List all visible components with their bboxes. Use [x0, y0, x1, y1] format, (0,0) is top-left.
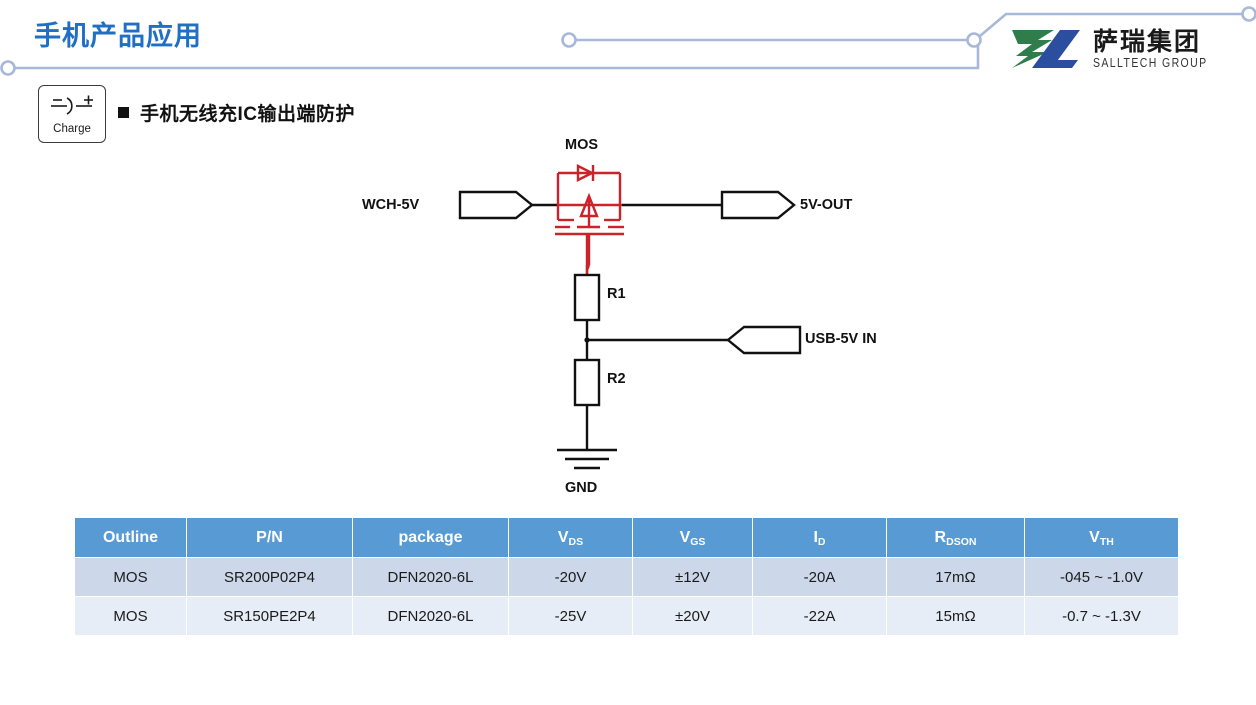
col-header-outline: Outline: [75, 518, 187, 558]
flag-usb-5v-in: [728, 327, 800, 353]
label-mos: MOS: [565, 137, 598, 153]
wire-junction-dot: [584, 337, 589, 342]
bullet-square-icon: [118, 107, 129, 118]
company-logo: 萨瑞集团 SALLTECH GROUP: [1008, 28, 1208, 70]
charge-symbol-icon: [46, 93, 98, 119]
trace-node-middle: [563, 34, 576, 47]
trace-node-left: [2, 62, 15, 75]
label-gnd: GND: [565, 480, 597, 496]
mos-spec-table: Outline P/N package VDS VGS ID RDSON VTH…: [74, 517, 1179, 636]
cell-id: -22A: [753, 597, 887, 636]
trace-node-junction: [968, 34, 981, 47]
cell-pn: SR150PE2P4: [187, 597, 353, 636]
cell-rdson: 15mΩ: [887, 597, 1025, 636]
circuit-diagram: MOS WCH-5V 5V-OUT R1 USB-5V IN R2 GND: [350, 130, 930, 510]
flag-5v-out: [722, 192, 794, 218]
label-r2: R2: [607, 371, 626, 387]
cell-outline: MOS: [75, 597, 187, 636]
logo-name-en: SALLTECH GROUP: [1093, 57, 1208, 70]
ground-symbol-icon: [557, 450, 617, 468]
bulk-arrow-icon: [581, 196, 597, 227]
label-usb-5v-in: USB-5V IN: [805, 331, 877, 347]
col-header-vth: VTH: [1025, 518, 1179, 558]
logo-name-cn: 萨瑞集团: [1093, 30, 1208, 55]
label-5v-out: 5V-OUT: [800, 197, 852, 213]
cell-vth: -045 ~ -1.0V: [1025, 558, 1179, 597]
col-header-vds: VDS: [509, 518, 633, 558]
page-title: 手机产品应用: [34, 14, 202, 53]
resistor-r2: [575, 360, 599, 405]
resistor-r1: [575, 275, 599, 320]
label-r1: R1: [607, 286, 626, 302]
circuit-svg: [350, 130, 930, 510]
table-row: MOS SR200P02P4 DFN2020-6L -20V ±12V -20A…: [75, 558, 1179, 597]
col-header-package: package: [353, 518, 509, 558]
col-header-rdson: RDSON: [887, 518, 1025, 558]
charge-label: Charge: [53, 123, 91, 135]
flag-wch-5v: [460, 192, 532, 218]
cell-vgs: ±20V: [633, 597, 753, 636]
section-heading-text: 手机无线充IC输出端防护: [140, 99, 355, 126]
section-heading: 手机无线充IC输出端防护: [118, 99, 355, 126]
cell-vds: -20V: [509, 558, 633, 597]
cell-outline: MOS: [75, 558, 187, 597]
cell-vth: -0.7 ~ -1.3V: [1025, 597, 1179, 636]
cell-package: DFN2020-6L: [353, 597, 509, 636]
cell-rdson: 17mΩ: [887, 558, 1025, 597]
col-header-pn: P/N: [187, 518, 353, 558]
table-row: MOS SR150PE2P4 DFN2020-6L -25V ±20V -22A…: [75, 597, 1179, 636]
charge-icon-card: Charge: [38, 85, 106, 143]
table-header-row: Outline P/N package VDS VGS ID RDSON VTH: [75, 518, 1179, 558]
cell-vgs: ±12V: [633, 558, 753, 597]
label-wch-5v: WCH-5V: [362, 197, 419, 213]
cell-pn: SR200P02P4: [187, 558, 353, 597]
cell-id: -20A: [753, 558, 887, 597]
col-header-vgs: VGS: [633, 518, 753, 558]
cell-package: DFN2020-6L: [353, 558, 509, 597]
col-header-id: ID: [753, 518, 887, 558]
cell-vds: -25V: [509, 597, 633, 636]
salltech-logo-mark: [1008, 28, 1084, 70]
trace-node-right: [1243, 8, 1256, 21]
